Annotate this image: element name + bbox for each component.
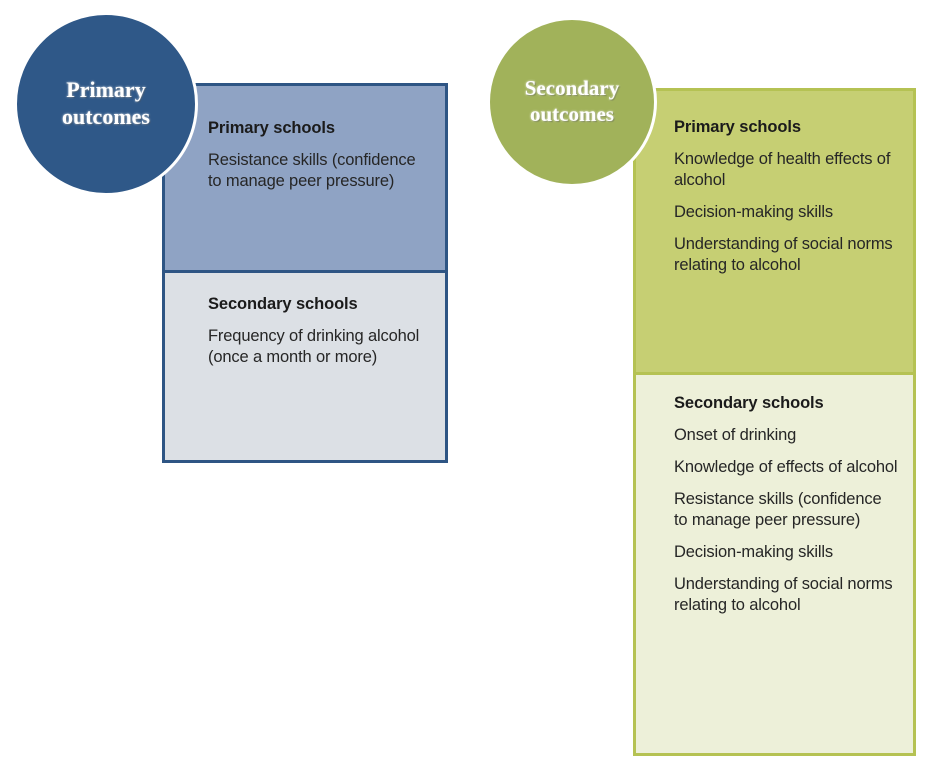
outcome-item: Decision-making skills	[674, 542, 899, 563]
outcome-item: Frequency of drinking alcohol (once a mo…	[208, 326, 429, 368]
outcomes-diagram: Primary schools Resistance skills (confi…	[0, 0, 928, 768]
secondary-outcomes-panel: Primary schools Knowledge of health effe…	[633, 88, 916, 756]
circle-label-line: Primary	[62, 77, 150, 104]
outcome-item: Decision-making skills	[674, 202, 899, 223]
outcome-item: Understanding of social norms relating t…	[674, 574, 899, 616]
circle-label-line: outcomes	[62, 104, 150, 131]
section-heading: Primary schools	[208, 119, 429, 139]
primary-outcomes-secondary-schools-section: Secondary schools Frequency of drinking …	[165, 270, 445, 460]
secondary-outcomes-primary-schools-section: Primary schools Knowledge of health effe…	[636, 91, 913, 372]
section-heading: Primary schools	[674, 118, 899, 138]
primary-outcomes-circle: Primary outcomes	[14, 12, 198, 196]
section-heading: Secondary schools	[208, 295, 429, 315]
section-heading: Secondary schools	[674, 394, 899, 414]
outcome-item: Resistance skills (confidence to manage …	[674, 489, 899, 531]
secondary-outcomes-circle: Secondary outcomes	[487, 17, 657, 187]
primary-outcomes-panel: Primary schools Resistance skills (confi…	[162, 83, 448, 463]
circle-label-line: Secondary	[525, 76, 620, 102]
outcome-item: Onset of drinking	[674, 425, 899, 446]
outcome-item: Resistance skills (confidence to manage …	[208, 150, 429, 192]
circle-label-line: outcomes	[525, 102, 620, 128]
outcome-item: Understanding of social norms relating t…	[674, 234, 899, 276]
secondary-outcomes-circle-label: Secondary outcomes	[525, 76, 620, 127]
outcome-item: Knowledge of effects of alcohol	[674, 457, 899, 478]
primary-outcomes-circle-label: Primary outcomes	[62, 77, 150, 131]
secondary-outcomes-secondary-schools-section: Secondary schools Onset of drinking Know…	[636, 372, 913, 753]
primary-outcomes-primary-schools-section: Primary schools Resistance skills (confi…	[165, 86, 445, 270]
outcome-item: Knowledge of health effects of alcohol	[674, 149, 899, 191]
